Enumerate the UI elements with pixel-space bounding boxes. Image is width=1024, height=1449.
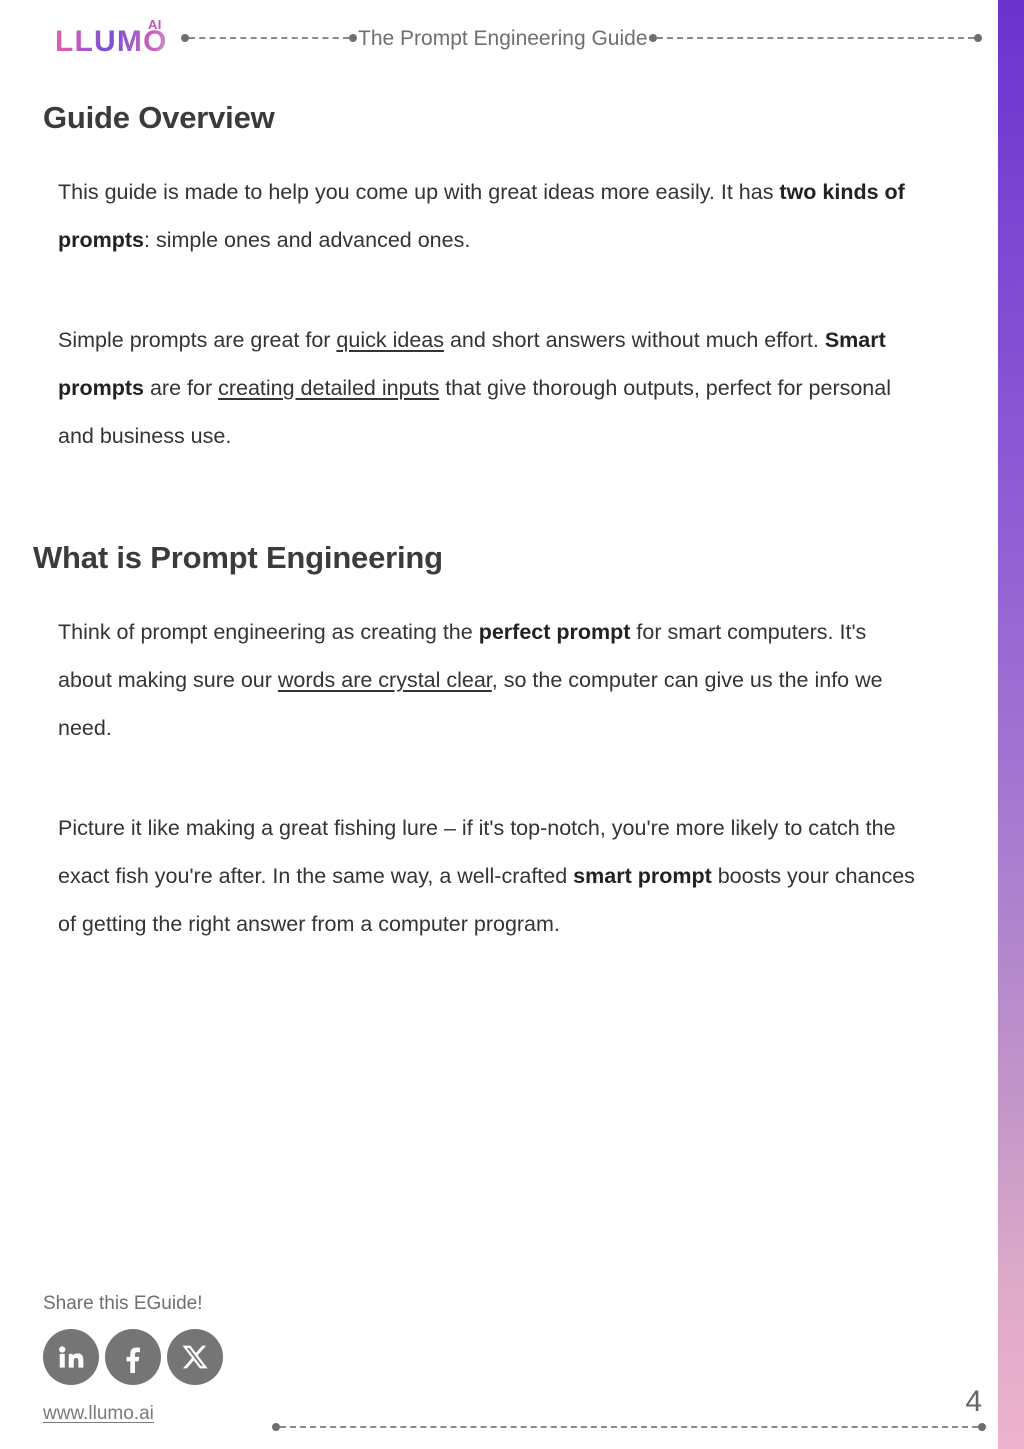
footer-dash bbox=[280, 1426, 978, 1428]
page-footer: Share this EGuide! www.llumo.ai bbox=[43, 1294, 443, 1425]
page-content: Guide Overview This guide is made to hel… bbox=[0, 100, 998, 948]
footer-dot-left bbox=[272, 1423, 280, 1431]
guide-page: LLUMO AI The Prompt Engineering Guide Gu… bbox=[0, 0, 1024, 1449]
paragraph: Picture it like making a great fishing l… bbox=[58, 804, 924, 948]
page-header: LLUMO AI The Prompt Engineering Guide bbox=[0, 12, 998, 64]
page-number: 4 bbox=[965, 1387, 982, 1417]
linkedin-icon[interactable] bbox=[43, 1329, 99, 1385]
header-dot-left bbox=[181, 34, 189, 42]
facebook-icon[interactable] bbox=[105, 1329, 161, 1385]
header-dot-mid-right bbox=[649, 34, 657, 42]
logo-ai-superscript: AI bbox=[148, 18, 162, 31]
section-heading-guide-overview: Guide Overview bbox=[43, 100, 998, 136]
share-label: Share this EGuide! bbox=[43, 1294, 443, 1313]
header-dash-right bbox=[657, 37, 975, 39]
paragraph: Think of prompt engineering as creating … bbox=[58, 608, 924, 752]
social-links bbox=[43, 1329, 443, 1385]
section-heading-what-is-prompt-engineering: What is Prompt Engineering bbox=[33, 540, 998, 576]
footer-rule bbox=[272, 1423, 986, 1431]
paragraph: This guide is made to help you come up w… bbox=[58, 168, 924, 264]
x-twitter-icon[interactable] bbox=[167, 1329, 223, 1385]
header-dot-mid-left bbox=[349, 34, 357, 42]
header-dash-left bbox=[189, 37, 349, 39]
paragraph: Simple prompts are great for quick ideas… bbox=[58, 316, 924, 460]
header-rule: The Prompt Engineering Guide bbox=[181, 28, 982, 49]
website-link[interactable]: www.llumo.ai bbox=[43, 1403, 154, 1425]
right-gradient-bar bbox=[998, 0, 1024, 1449]
header-title: The Prompt Engineering Guide bbox=[357, 28, 649, 49]
footer-dot-right bbox=[978, 1423, 986, 1431]
header-dot-right bbox=[974, 34, 982, 42]
llumo-logo[interactable]: LLUMO AI bbox=[55, 16, 175, 60]
